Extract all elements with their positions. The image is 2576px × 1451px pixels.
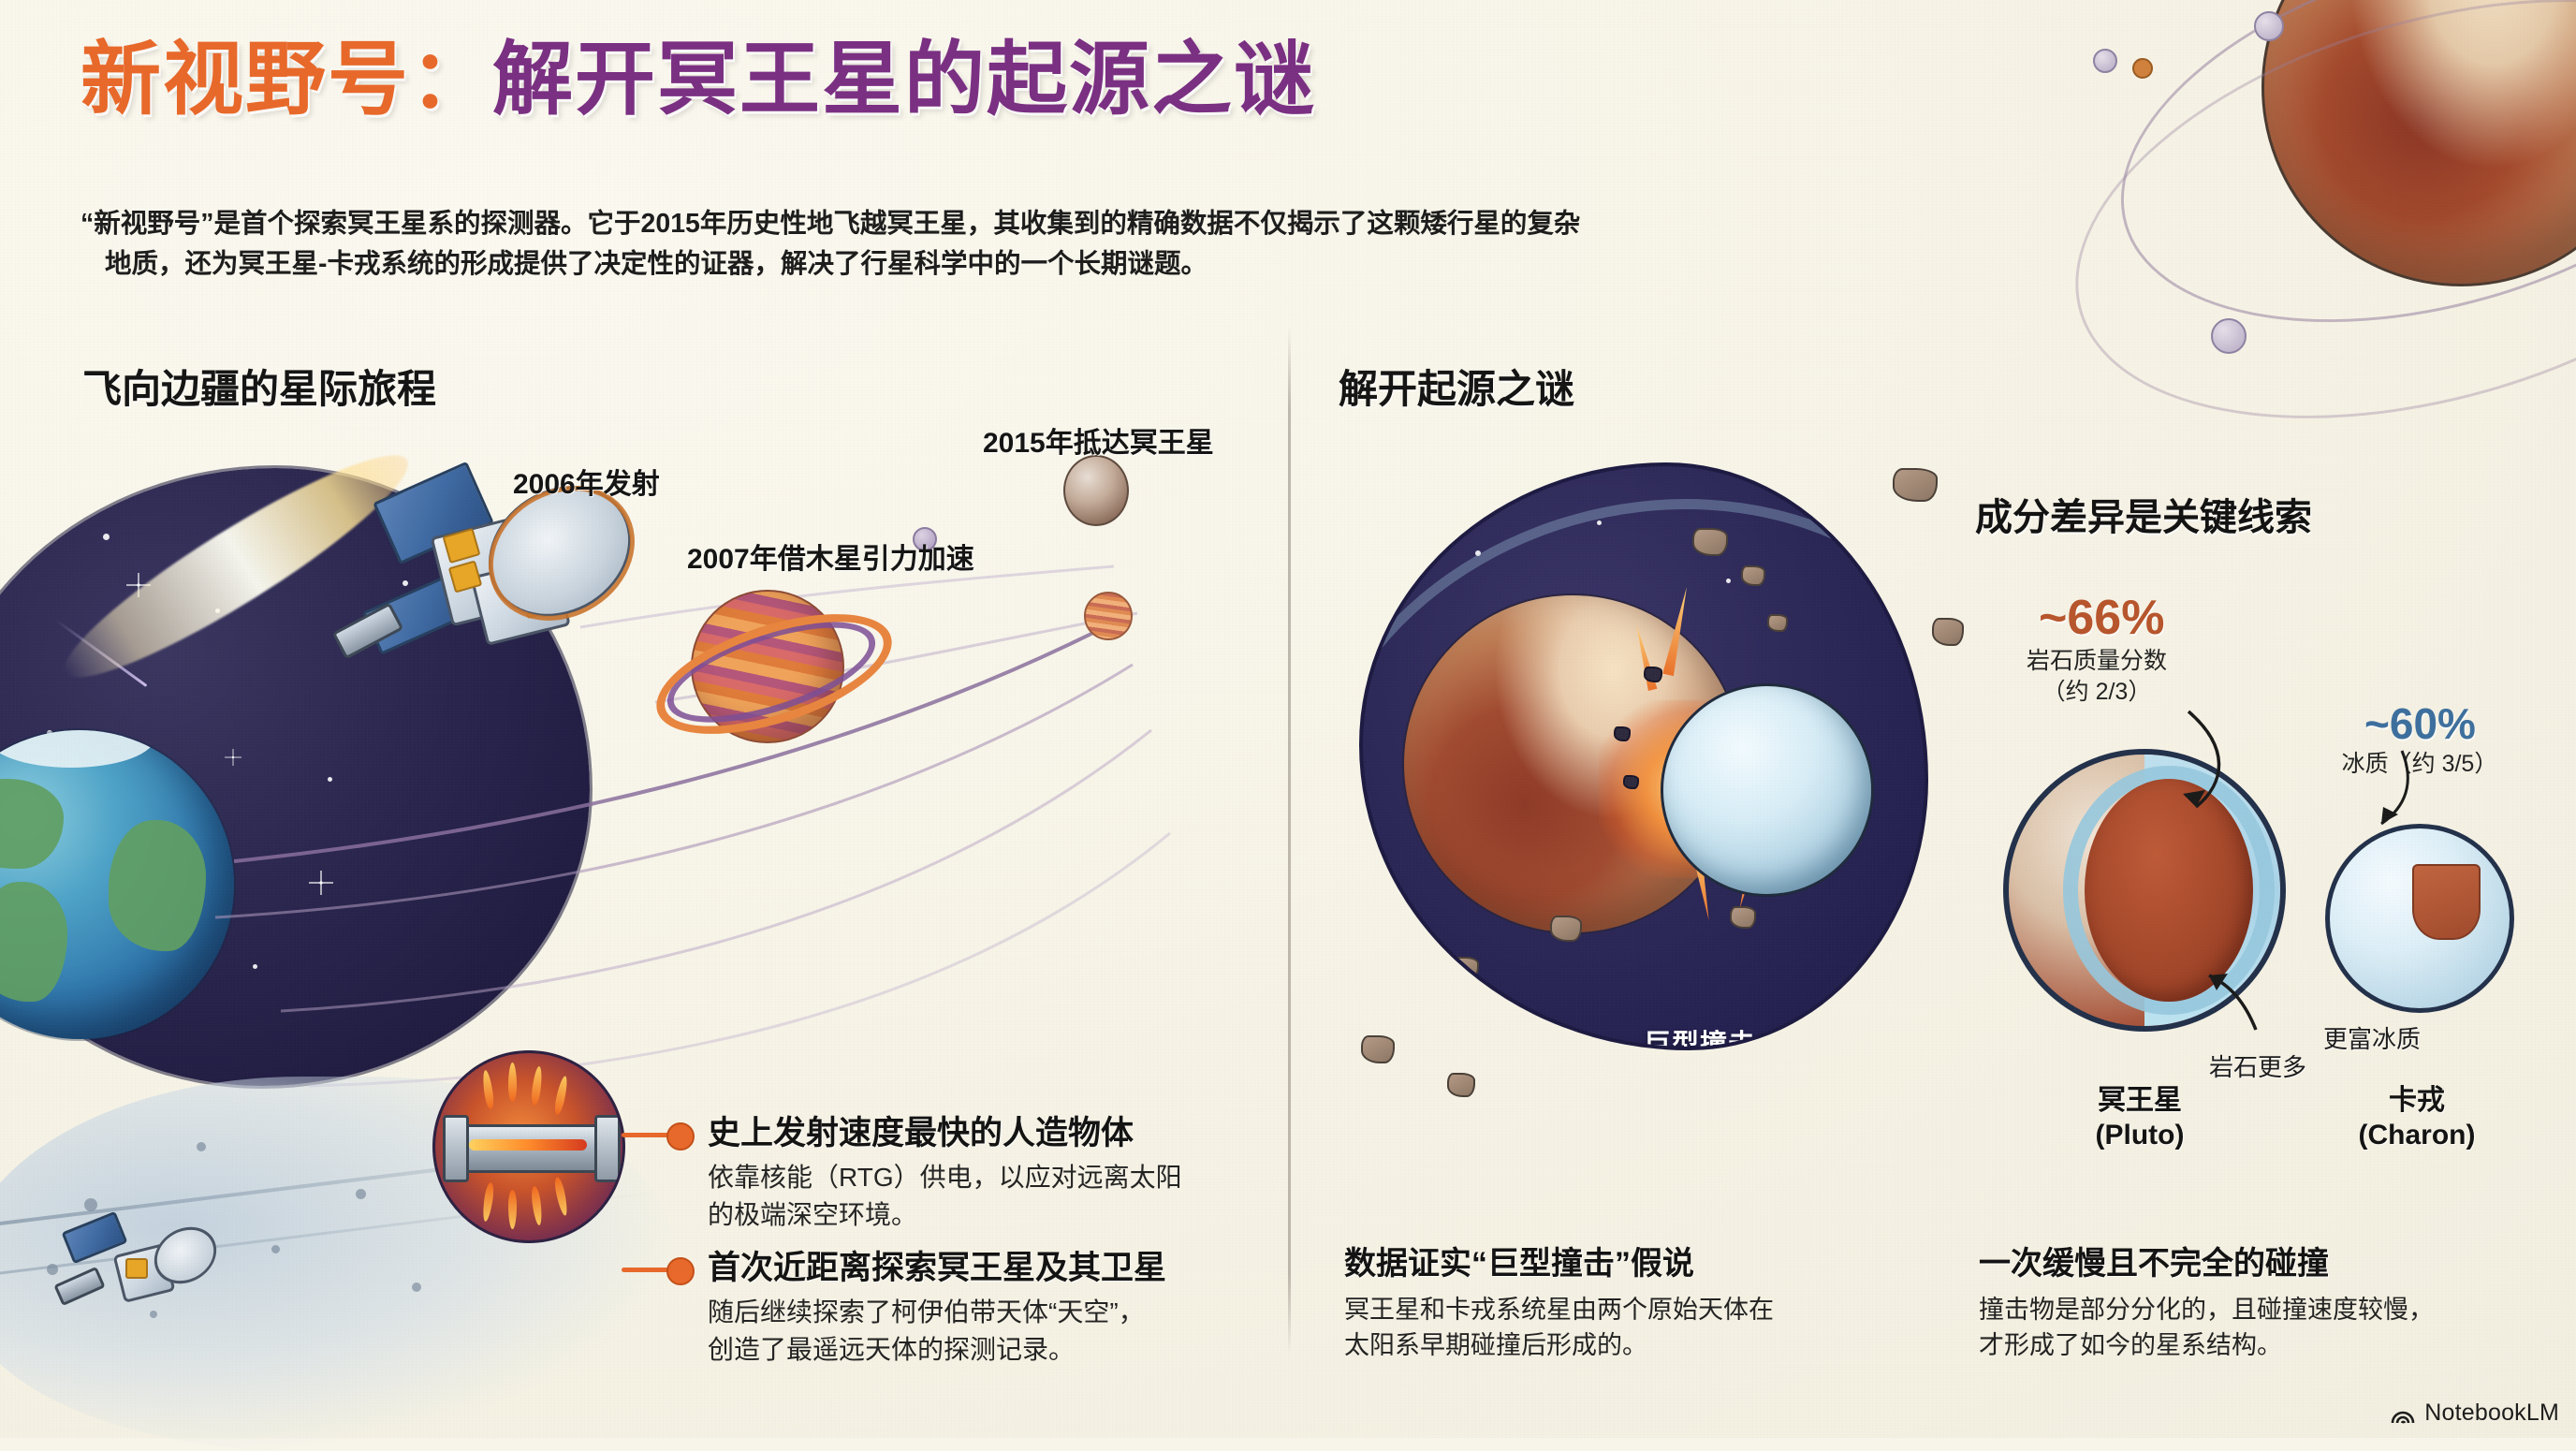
subtitle-line-1: “新视野号”是首个探索冥王星系的探测器。它于2015年历史性地飞越冥王星，其收集… — [80, 209, 1580, 239]
collision-tag-label: 巨型撞击 — [1644, 1022, 1756, 1050]
charon-name-cn: 卡戎 — [2323, 1084, 2510, 1119]
rock-percent-label: 岩石质量分数 （约 2/3） — [1975, 646, 2218, 708]
right-block-2-heading: 一次缓慢且不完全的碰撞 — [1979, 1238, 2540, 1283]
left-section-title: 飞向边疆的星际旅程 — [82, 358, 436, 415]
left-bullet-1-body-line-1: 依靠核能（RTG）供电，以应对远离太阳 — [708, 1159, 1307, 1196]
right-block-1-line-2: 太阳系早期碰撞后形成的。 — [1344, 1328, 1906, 1364]
pluto-name-en: (Pluto) — [2046, 1119, 2233, 1153]
pluto-small-illustration — [1063, 455, 1129, 526]
rock-label-line-2: （约 2/3） — [1975, 677, 2218, 708]
right-block-2-line-1: 撞击物是部分分化的，且碰撞速度较慢， — [1979, 1293, 2540, 1328]
right-block-2-body: 撞击物是部分分化的，且碰撞速度较慢， 才形成了如今的星系结构。 — [1979, 1293, 2540, 1364]
corner-moon-2 — [2093, 49, 2117, 73]
giant-impact-illustration: 巨型撞击 — [1346, 440, 1945, 1095]
timeline-label-2015: 2015年抵达冥王星 — [983, 419, 1214, 461]
left-bullet-2-body: 随后继续探索了柯伊伯带天体“天空”， 创造了最遥远天体的探测记录。 — [708, 1294, 1307, 1369]
bullet-dot-1 — [666, 1122, 695, 1151]
page-title: 新视野号：解开冥王星的起源之谜 — [80, 37, 1316, 122]
ice-percent-label: 冰质（约 3/5） — [2312, 749, 2527, 780]
left-bullet-1-body-line-2: 的极端深空环境。 — [708, 1196, 1307, 1234]
pluto-cutaway-diagram — [2003, 749, 2286, 1032]
corner-moon-1 — [2254, 11, 2284, 41]
timeline-label-2007: 2007年借木星引力加速 — [687, 535, 974, 577]
notebooklm-label: NotebookLM — [2424, 1400, 2559, 1427]
new-horizons-spacecraft-illustration — [329, 479, 629, 732]
pluto-name-cn: 冥王星 — [2046, 1084, 2233, 1119]
jupiter-illustration — [666, 573, 863, 760]
composition-title: 成分差异是关键线索 — [1975, 487, 2312, 541]
right-block-2-line-2: 才形成了如今的星系结构。 — [1979, 1328, 2540, 1364]
rock-percent-value: ~66% — [2039, 590, 2164, 646]
page-subtitle: “新视野号”是首个探索冥王星系的探测器。它于2015年历史性地飞越冥王星，其收集… — [80, 204, 2074, 285]
mini-spacecraft-illustration — [56, 1217, 215, 1339]
bullet-dot-2 — [666, 1257, 695, 1285]
right-block-1-body: 冥王星和卡戎系统星由两个原始天体在 太阳系早期碰撞后形成的。 — [1344, 1293, 1906, 1364]
right-block-1: 数据证实“巨型撞击”假说 冥王星和卡戎系统星由两个原始天体在 太阳系早期碰撞后形… — [1344, 1238, 1906, 1364]
corner-orbit-ring-2 — [2027, 0, 2576, 494]
left-bullet-1-body: 依靠核能（RTG）供电，以应对远离太阳 的极端深空环境。 — [708, 1159, 1307, 1234]
ice-label-line-1: 冰质（约 3/5） — [2312, 749, 2527, 780]
notebooklm-logo-icon — [2390, 1400, 2416, 1427]
rtg-power-icon — [432, 1050, 625, 1243]
annotation-ice-richer: 更富冰质 — [2323, 1020, 2421, 1055]
left-bullet-2-heading: 首次近距离探索冥王星及其卫星 — [708, 1241, 1166, 1289]
corner-moon-3 — [2211, 318, 2247, 354]
right-block-1-heading: 数据证实“巨型撞击”假说 — [1344, 1238, 1906, 1283]
small-planet-illustration — [1084, 592, 1133, 640]
rock-label-line-1: 岩石质量分数 — [1975, 646, 2218, 677]
subtitle-line-2: 地质，还为冥王星-卡戎系统的形成提供了决定性的证器，解决了行星科学中的一个长期谜… — [80, 244, 2074, 285]
infographic-poster: 新视野号：解开冥王星的起源之谜 “新视野号”是首个探索冥王星系的探测器。它于20… — [0, 0, 2576, 1438]
notebooklm-watermark: NotebookLM — [2390, 1400, 2559, 1427]
pluto-caption: 冥王星 (Pluto) — [2046, 1084, 2233, 1152]
corner-asteroid — [2132, 58, 2153, 79]
title-part-orange: 新视野号： — [80, 35, 492, 125]
right-section-title: 解开起源之谜 — [1339, 358, 1574, 415]
timeline-label-2006: 2006年发射 — [513, 461, 660, 502]
charon-cutaway-diagram — [2325, 824, 2514, 1013]
left-bullet-2-body-line-2: 创造了最遥远天体的探测记录。 — [708, 1331, 1307, 1369]
charon-name-en: (Charon) — [2323, 1119, 2510, 1153]
left-bullet-2-body-line-1: 随后继续探索了柯伊伯带天体“天空”， — [708, 1294, 1307, 1331]
right-block-1-line-1: 冥王星和卡戎系统星由两个原始天体在 — [1344, 1293, 1906, 1328]
right-block-2: 一次缓慢且不完全的碰撞 撞击物是部分分化的，且碰撞速度较慢， 才形成了如今的星系… — [1979, 1238, 2540, 1364]
charon-caption: 卡戎 (Charon) — [2323, 1084, 2510, 1152]
annotation-rock-more: 岩石更多 — [2209, 1048, 2306, 1083]
left-bullet-1-heading: 史上发射速度最快的人造物体 — [708, 1107, 1134, 1154]
ice-percent-value: ~60% — [2364, 698, 2476, 749]
title-part-purple: 解开冥王星的起源之谜 — [492, 35, 1316, 125]
